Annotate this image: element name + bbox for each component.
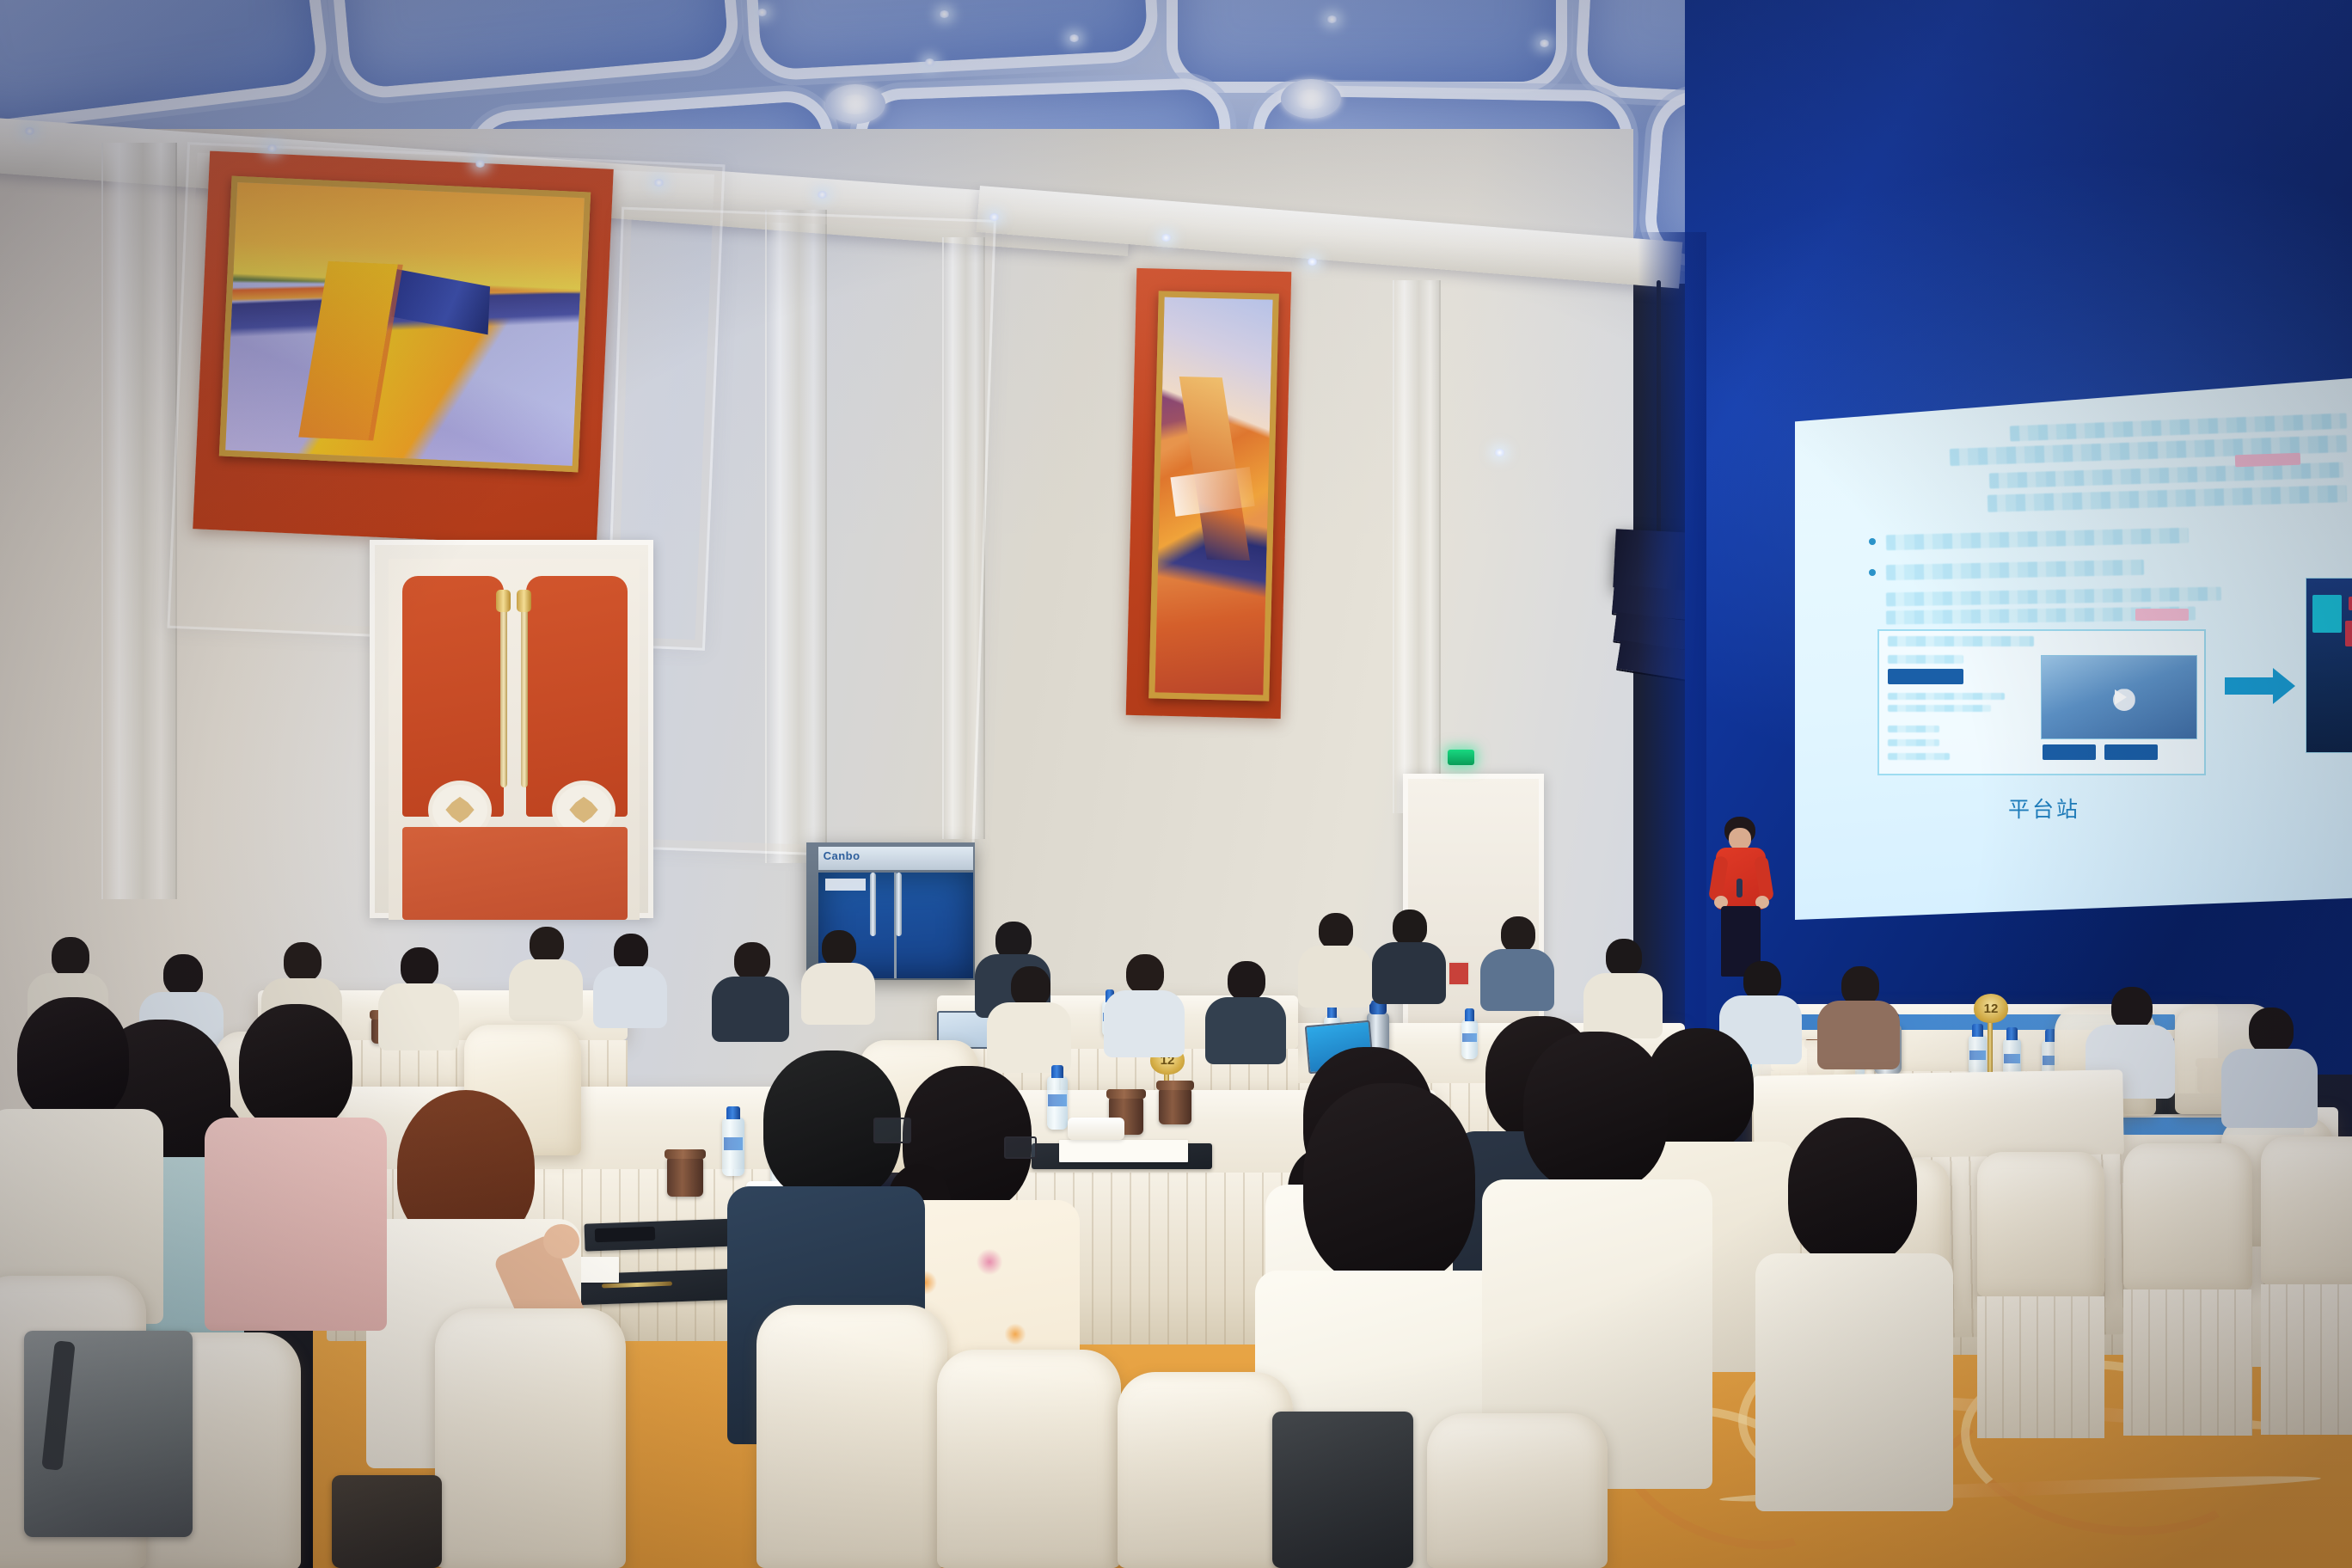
wall-downlight bbox=[1161, 234, 1172, 242]
ceramic-mug[interactable] bbox=[667, 1157, 703, 1197]
attendee-head bbox=[1126, 954, 1164, 994]
attendee-torso bbox=[1205, 997, 1286, 1064]
attendee-hair bbox=[1303, 1083, 1475, 1286]
attendee-head bbox=[52, 937, 89, 977]
notepad-sheet bbox=[1059, 1140, 1188, 1162]
banquet-chair-foreground[interactable] bbox=[1427, 1413, 1608, 1568]
attendee-head bbox=[1011, 966, 1050, 1008]
eyeglasses bbox=[1004, 1136, 1037, 1159]
attendee-head bbox=[2111, 987, 2153, 1030]
ceiling-rosette bbox=[1281, 79, 1341, 119]
banquet-chair-foreground[interactable] bbox=[937, 1350, 1121, 1568]
fridge-brand-label: Canbo bbox=[824, 849, 861, 862]
attendee-torso bbox=[1480, 949, 1554, 1011]
banquet-chair[interactable] bbox=[2123, 1143, 2252, 1289]
attendee-head bbox=[734, 942, 770, 980]
banquet-chair[interactable] bbox=[2261, 1136, 2352, 1284]
attendee-torso bbox=[2221, 1049, 2318, 1128]
chair-cover-skirt bbox=[2123, 1289, 2252, 1436]
folded-towel bbox=[1068, 1118, 1124, 1140]
attendee-head bbox=[2249, 1008, 2294, 1054]
attendee-torso bbox=[205, 1118, 387, 1331]
painting-abstract-figure bbox=[1148, 291, 1279, 701]
ceiling-downlight bbox=[939, 10, 950, 18]
conference-hall-photo: Canbo bbox=[0, 0, 2352, 1568]
attendee-torso bbox=[801, 963, 875, 1025]
wall-recess-panel bbox=[599, 207, 996, 861]
door-handle-left[interactable] bbox=[500, 607, 507, 787]
banquet-chair-foreground[interactable] bbox=[1118, 1372, 1293, 1568]
microphone[interactable] bbox=[1736, 879, 1743, 897]
slide-cta-button[interactable] bbox=[2043, 744, 2096, 760]
attendee-torso bbox=[987, 1002, 1071, 1073]
fridge-handle-right[interactable] bbox=[896, 873, 902, 936]
water-bottle[interactable] bbox=[1461, 1020, 1478, 1059]
emergency-call-box[interactable] bbox=[1448, 961, 1470, 986]
banquet-chair-foreground[interactable] bbox=[756, 1305, 947, 1568]
water-bottle[interactable] bbox=[722, 1118, 744, 1176]
ceiling-downlight bbox=[1539, 40, 1550, 47]
ceiling-downlight bbox=[924, 58, 935, 66]
ceramic-mug[interactable] bbox=[1159, 1088, 1191, 1124]
attendee-hand bbox=[543, 1224, 579, 1259]
play-icon bbox=[2115, 689, 2127, 705]
painting-abstract-landscape bbox=[219, 176, 591, 473]
wall-downlight bbox=[1307, 258, 1318, 266]
door-knob-left[interactable] bbox=[496, 590, 511, 612]
attendee-torso bbox=[1755, 1253, 1953, 1511]
shoulder-bag[interactable] bbox=[1272, 1412, 1413, 1568]
ceiling-rosette bbox=[825, 84, 885, 124]
attendee-torso bbox=[1583, 973, 1663, 1038]
attendee-torso bbox=[712, 977, 789, 1042]
attendee-hair bbox=[1788, 1118, 1917, 1265]
projection-screen: 平台站 bbox=[1795, 378, 2352, 920]
door-handle-right[interactable] bbox=[521, 607, 528, 787]
wall-pilaster bbox=[101, 143, 177, 899]
slide-caption: 平台站 bbox=[2008, 793, 2080, 824]
ceiling-downlight bbox=[1326, 15, 1338, 23]
attendee-head bbox=[614, 934, 648, 970]
attendee-torso bbox=[1372, 942, 1446, 1004]
wall-downlight bbox=[475, 160, 486, 168]
ceiling-downlight bbox=[756, 9, 768, 16]
attendee-hair bbox=[239, 1004, 352, 1131]
chair-cover-skirt bbox=[1977, 1296, 2104, 1438]
wall-downlight bbox=[24, 127, 35, 135]
wall-downlight bbox=[1494, 449, 1505, 456]
attendee-head bbox=[284, 942, 322, 982]
slide-bullet bbox=[1869, 569, 1876, 576]
attendee-head bbox=[822, 930, 856, 966]
attendee-head bbox=[1606, 939, 1642, 977]
wall-downlight bbox=[653, 179, 665, 187]
door-knob-right[interactable] bbox=[517, 590, 531, 612]
stage-backdrop-left-fade bbox=[1638, 232, 1706, 1075]
attendee-head bbox=[1319, 913, 1353, 949]
attendee-head bbox=[530, 927, 564, 963]
attendee-head bbox=[1501, 916, 1535, 952]
banquet-chair[interactable] bbox=[1977, 1152, 2104, 1296]
wall-pilaster bbox=[1393, 280, 1441, 813]
attendee-torso bbox=[1104, 990, 1185, 1057]
wall-downlight bbox=[266, 144, 278, 152]
attendee-torso bbox=[593, 966, 667, 1028]
eyeglasses bbox=[873, 1118, 911, 1143]
fridge-sticker bbox=[825, 879, 866, 891]
wall-downlight bbox=[989, 213, 1000, 221]
attendee-torso bbox=[1817, 1001, 1900, 1069]
table-number-badge: 12 bbox=[1974, 994, 2008, 1023]
wall-downlight bbox=[817, 191, 828, 199]
slide-cta-button[interactable] bbox=[2104, 744, 2158, 760]
attendee-hair bbox=[17, 997, 129, 1123]
fridge-handle-left[interactable] bbox=[870, 873, 876, 936]
slide-bullet bbox=[1869, 538, 1876, 545]
exit-sign bbox=[1448, 750, 1474, 765]
attendee-torso bbox=[378, 983, 459, 1050]
smartphone[interactable] bbox=[595, 1227, 656, 1242]
attendee-head bbox=[163, 954, 203, 995]
attendee-hair bbox=[1523, 1032, 1668, 1191]
attendee-head bbox=[1228, 961, 1265, 1001]
attendee-torso bbox=[1298, 946, 1372, 1008]
banquet-chair-foreground[interactable] bbox=[435, 1308, 626, 1568]
water-bottle[interactable] bbox=[1047, 1076, 1068, 1130]
attendee-head bbox=[1393, 910, 1427, 946]
chair-cover-skirt bbox=[2261, 1284, 2352, 1435]
ceiling-downlight bbox=[1069, 34, 1080, 42]
door-panel-lower bbox=[402, 827, 628, 920]
flow-arrow-icon bbox=[2225, 677, 2275, 695]
attendee-torso bbox=[509, 959, 583, 1021]
attendee-head bbox=[401, 947, 438, 987]
handbag[interactable] bbox=[332, 1475, 442, 1568]
